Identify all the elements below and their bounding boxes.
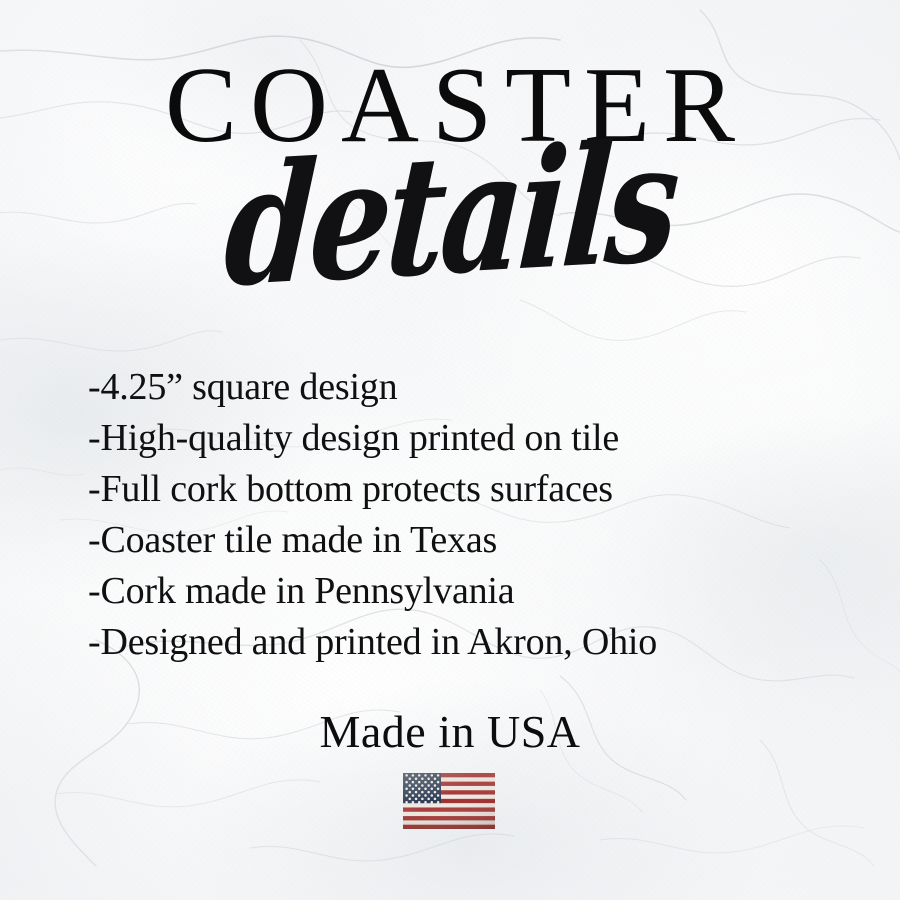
list-item: -Coaster tile made in Texas xyxy=(88,515,848,566)
spec-list: -4.25” square design -High-quality desig… xyxy=(88,362,848,668)
usa-flag-icon xyxy=(403,773,495,829)
list-item: -Cork made in Pennsylvania xyxy=(88,566,848,617)
list-item: -Designed and printed in Akron, Ohio xyxy=(88,617,848,668)
list-item: -High-quality design printed on tile xyxy=(88,413,848,464)
list-item: -4.25” square design xyxy=(88,362,848,413)
flag-fade-overlay xyxy=(403,773,495,829)
coaster-details-graphic: COASTER details -4.25” square design -Hi… xyxy=(0,0,900,900)
list-item: -Full cork bottom protects surfaces xyxy=(88,464,848,515)
made-in-usa-label: Made in USA xyxy=(0,708,900,756)
